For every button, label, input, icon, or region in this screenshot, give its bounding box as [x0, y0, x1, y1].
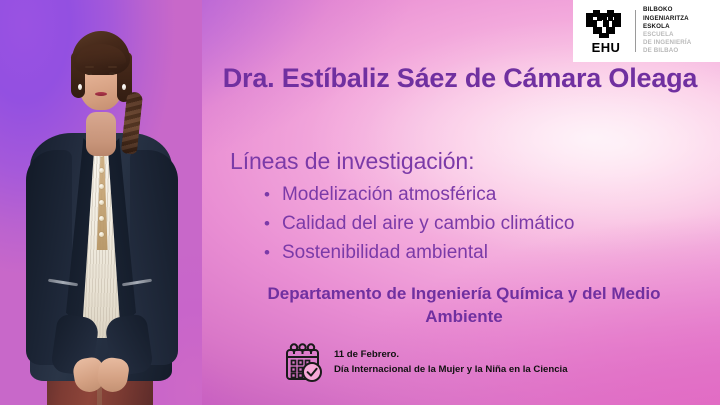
- figure-blouse-button: [99, 184, 104, 189]
- figure-neck: [86, 112, 116, 156]
- date-text: 11 de Febrero. Día Internacional de la M…: [334, 348, 568, 378]
- date-callout: 11 de Febrero. Día Internacional de la M…: [284, 342, 568, 384]
- list-item: • Calidad del aire y cambio climático: [254, 210, 674, 239]
- figure-earring-left: [78, 84, 82, 90]
- list-item-label: Modelización atmosférica: [282, 181, 496, 210]
- figure-eyebrow-right: [108, 66, 117, 68]
- portrait-photo: [0, 0, 202, 405]
- list-item: • Sostenibilidad ambiental: [254, 239, 674, 268]
- research-lines-list: • Modelización atmosférica • Calidad del…: [254, 181, 674, 268]
- list-item-label: Calidad del aire y cambio climático: [282, 210, 575, 239]
- department-name: Departamento de Ingeniería Química y del…: [238, 283, 690, 329]
- bullet-icon: •: [264, 244, 270, 261]
- slide-root: EHU BILBOKO INGENIARITZA ESKOLA ESCUELA …: [0, 0, 720, 405]
- figure-blouse-button: [99, 232, 104, 237]
- figure-earring-right: [122, 84, 126, 90]
- list-item: • Modelización atmosférica: [254, 181, 674, 210]
- figure-blouse-button: [99, 200, 104, 205]
- date-line-2: Día Internacional de la Mujer y la Niña …: [334, 363, 568, 378]
- calendar-check-icon: [284, 342, 324, 384]
- figure-eye-left: [86, 72, 92, 75]
- research-lines-heading: Líneas de investigación:: [230, 148, 474, 175]
- date-line-1: 11 de Febrero.: [334, 348, 568, 363]
- figure-eyebrow-left: [85, 66, 94, 68]
- figure-eye-right: [109, 72, 115, 75]
- list-item-label: Sostenibilidad ambiental: [282, 239, 488, 268]
- bullet-icon: •: [264, 215, 270, 232]
- page-title: Dra. Estíbaliz Sáez de Cámara Oleaga: [220, 62, 700, 94]
- figure-blouse-button: [99, 216, 104, 221]
- bullet-icon: •: [264, 186, 270, 203]
- figure-lips: [95, 92, 107, 96]
- slide-content: Dra. Estíbaliz Sáez de Cámara Oleaga Lín…: [196, 0, 720, 405]
- portrait-figure: [0, 0, 202, 405]
- figure-blouse-button: [99, 168, 104, 173]
